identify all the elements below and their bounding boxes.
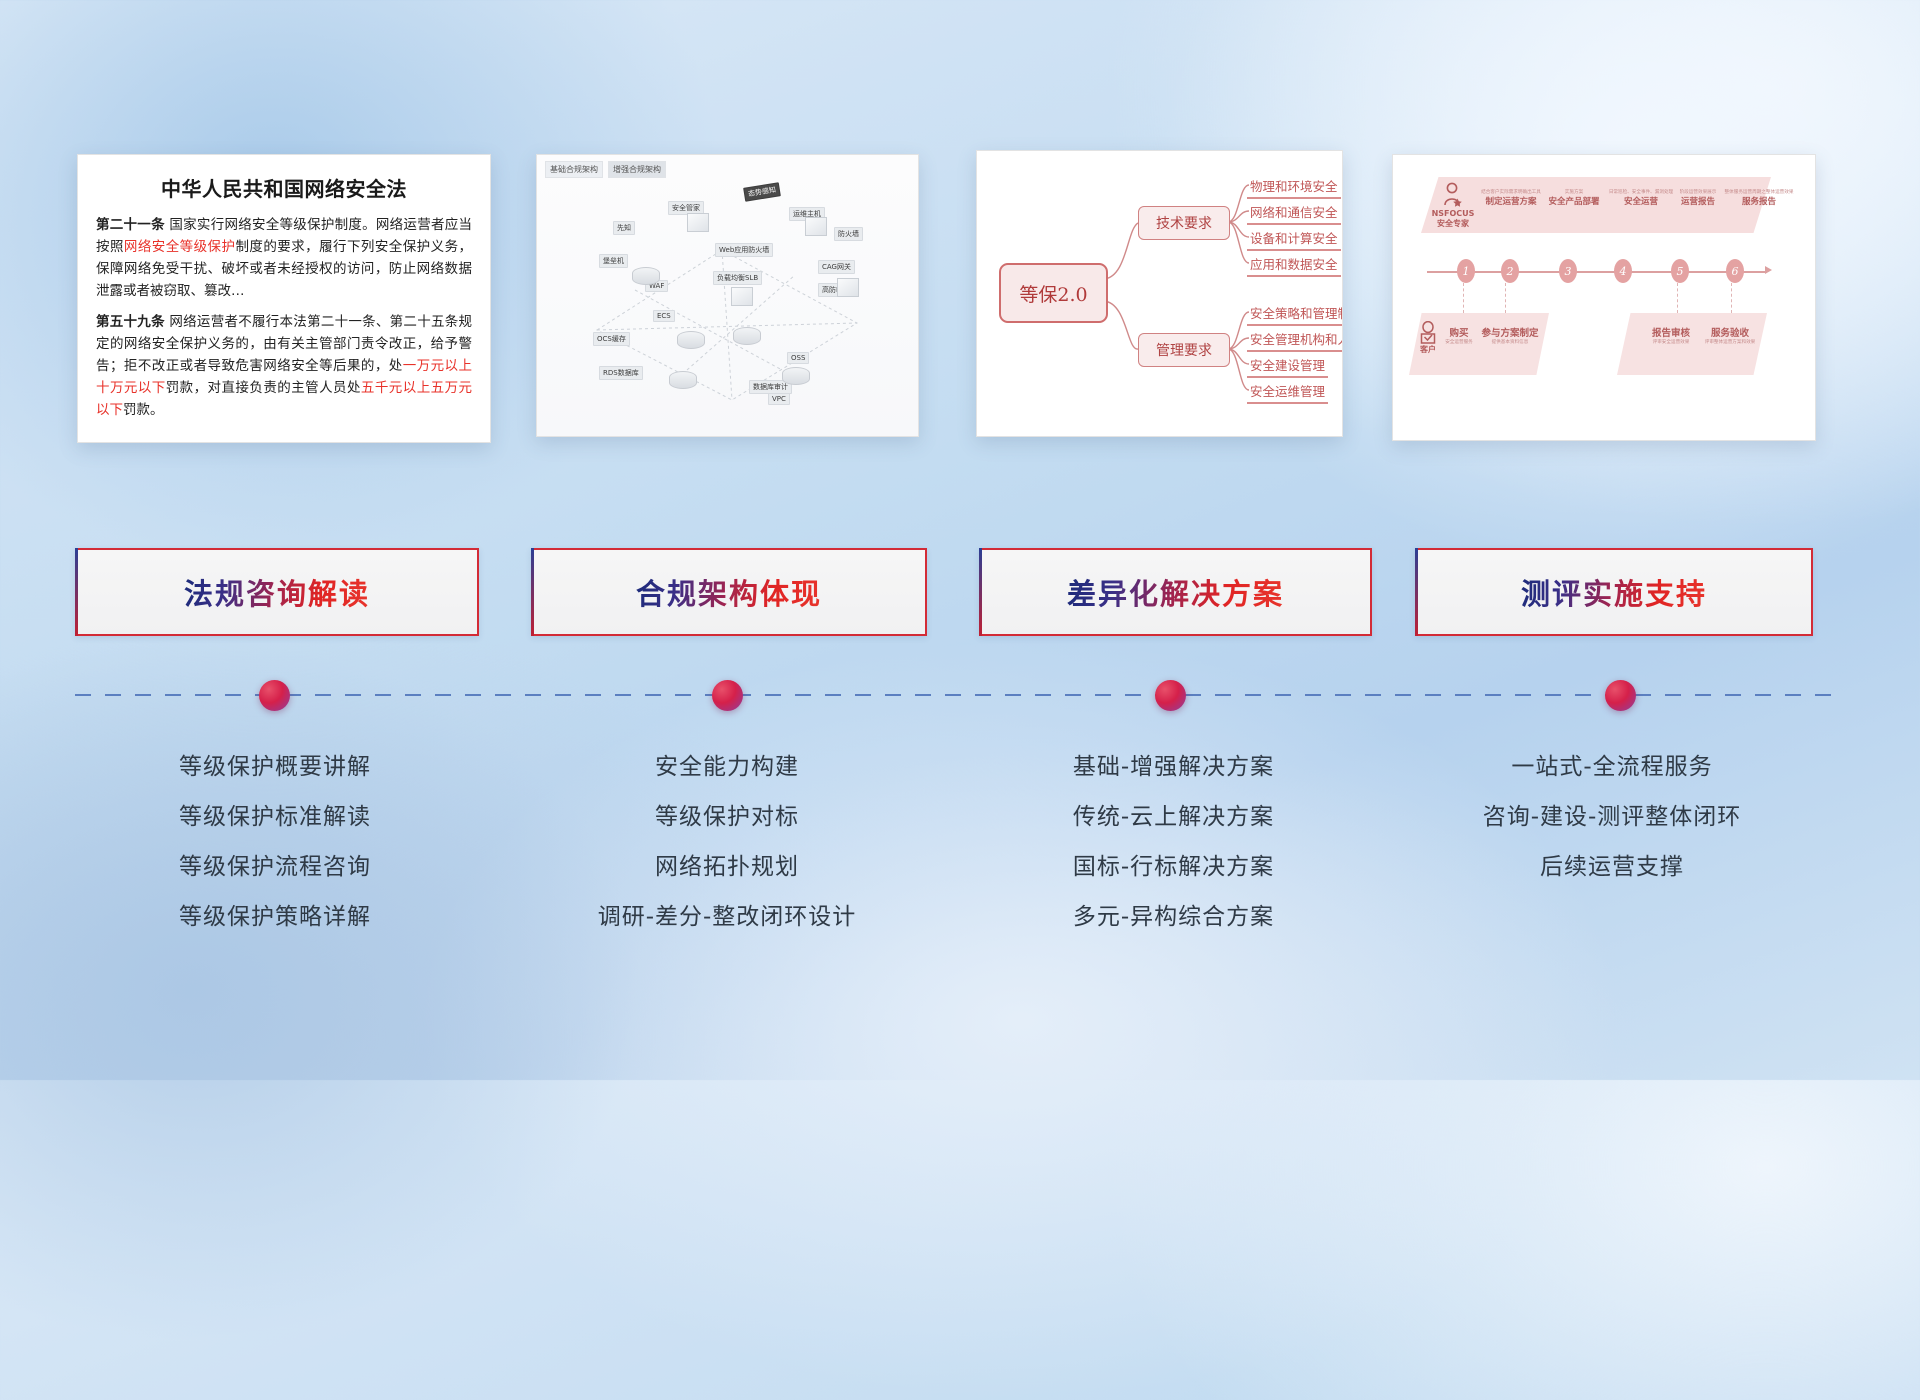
heading-box-differentiated-solution[interactable]: 差异化解决方案 xyxy=(979,548,1372,636)
timeline-dot-2[interactable] xyxy=(712,680,743,711)
heading-label-2: 合规架构体现 xyxy=(636,571,822,613)
list-item: 传统-云上解决方案 xyxy=(979,792,1368,842)
heading-box-compliance-architecture[interactable]: 合规架构体现 xyxy=(531,548,927,636)
timeline-dot-4[interactable] xyxy=(1605,680,1636,711)
list-item: 一站式-全流程服务 xyxy=(1415,742,1809,792)
list-item: 等级保护对标 xyxy=(531,792,923,842)
list-item: 网络拓扑规划 xyxy=(531,842,923,892)
heading-label-4: 测评实施支持 xyxy=(1521,571,1707,613)
column-list-4: 一站式-全流程服务 咨询-建设-测评整体闭环 后续运营支撑 xyxy=(1415,742,1809,892)
list-item: 等级保护概要讲解 xyxy=(75,742,475,792)
list-item: 等级保护流程咨询 xyxy=(75,842,475,892)
list-item: 后续运营支撑 xyxy=(1415,842,1809,892)
list-item: 等级保护标准解读 xyxy=(75,792,475,842)
list-item: 咨询-建设-测评整体闭环 xyxy=(1415,792,1809,842)
column-list-3: 基础-增强解决方案 传统-云上解决方案 国标-行标解决方案 多元-异构综合方案 xyxy=(979,742,1368,942)
column-list-2: 安全能力构建 等级保护对标 网络拓扑规划 调研-差分-整改闭环设计 xyxy=(531,742,923,942)
heading-box-assessment-support[interactable]: 测评实施支持 xyxy=(1415,548,1813,636)
heading-label-3: 差异化解决方案 xyxy=(1067,571,1284,613)
timeline-dot-1[interactable] xyxy=(259,680,290,711)
list-item: 基础-增强解决方案 xyxy=(979,742,1368,792)
heading-box-regulation-consulting[interactable]: 法规咨询解读 xyxy=(75,548,479,636)
list-item: 多元-异构综合方案 xyxy=(979,892,1368,942)
list-item: 等级保护策略详解 xyxy=(75,892,475,942)
list-item: 国标-行标解决方案 xyxy=(979,842,1368,892)
list-item: 安全能力构建 xyxy=(531,742,923,792)
column-list-1: 等级保护概要讲解 等级保护标准解读 等级保护流程咨询 等级保护策略详解 xyxy=(75,742,475,942)
heading-label-1: 法规咨询解读 xyxy=(184,571,370,613)
list-item: 调研-差分-整改闭环设计 xyxy=(531,892,923,942)
timeline-dot-3[interactable] xyxy=(1155,680,1186,711)
timeline-dashed-line xyxy=(75,694,1832,696)
